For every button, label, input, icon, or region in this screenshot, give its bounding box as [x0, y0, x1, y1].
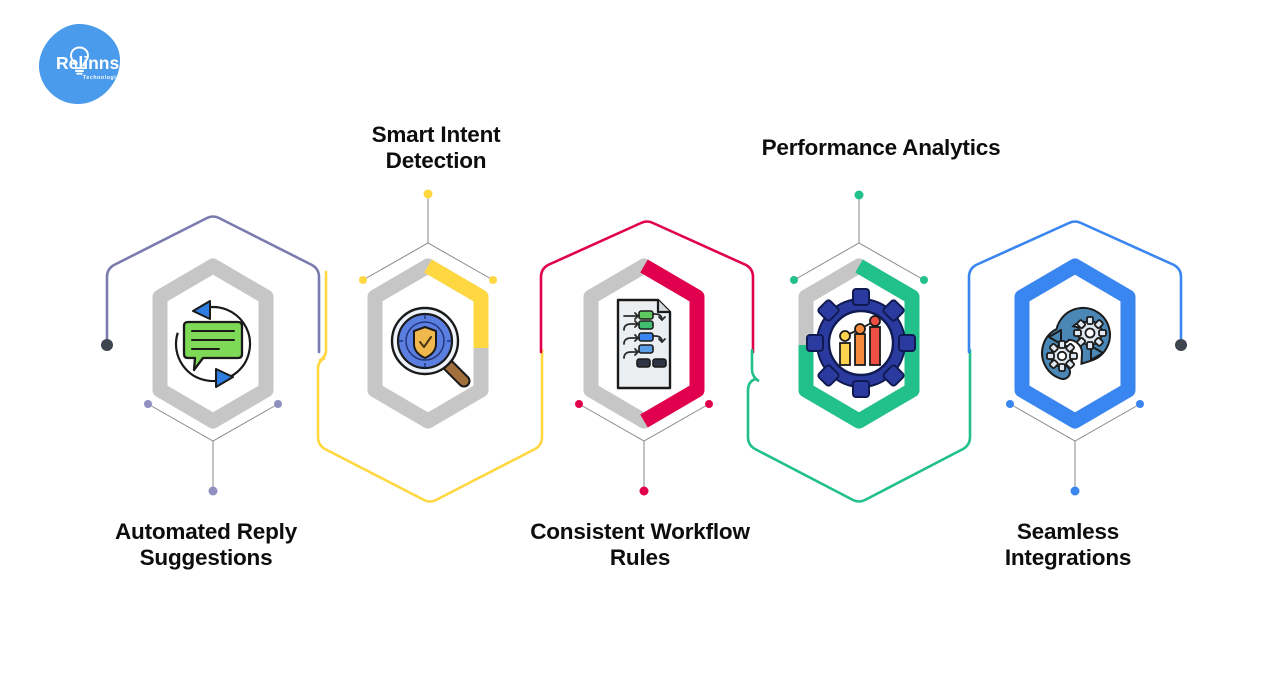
stem-dot [424, 190, 433, 199]
chain-start-dot [101, 339, 113, 351]
hexring-step-5 [1022, 266, 1128, 421]
step-label-3: Consistent Workflow Rules [515, 519, 765, 571]
step-label-5: Seamless Integrations [978, 519, 1158, 571]
infographic-canvas: Relinns Technologies [0, 0, 1280, 686]
stem-dot [1071, 487, 1080, 496]
vertex-dot-right [705, 400, 713, 408]
workflow-document-icon [618, 300, 670, 388]
vertex-dot-left [575, 400, 583, 408]
gear-bar-chart-icon [807, 289, 915, 397]
stem-dot [209, 487, 218, 496]
stem-dot [855, 191, 864, 200]
step-label-2: Smart Intent Detection [336, 122, 536, 174]
vertex-dot-left [790, 276, 798, 284]
step-label-1: Automated Reply Suggestions [86, 519, 326, 571]
integration-gears-icon [1047, 315, 1106, 372]
stem-dot [640, 487, 649, 496]
magnifier-shield-icon [392, 308, 464, 381]
vertex-dot-left [144, 400, 152, 408]
vertex-dot-left [1006, 400, 1014, 408]
step-label-4: Performance Analytics [750, 135, 1012, 161]
chat-refresh-icon [161, 292, 264, 395]
vertex-dot-right [489, 276, 497, 284]
vertex-dot-right [274, 400, 282, 408]
vertex-dot-left [359, 276, 367, 284]
vertex-dot-right [920, 276, 928, 284]
vertex-dot-right [1136, 400, 1144, 408]
chain-end-dot [1175, 339, 1187, 351]
